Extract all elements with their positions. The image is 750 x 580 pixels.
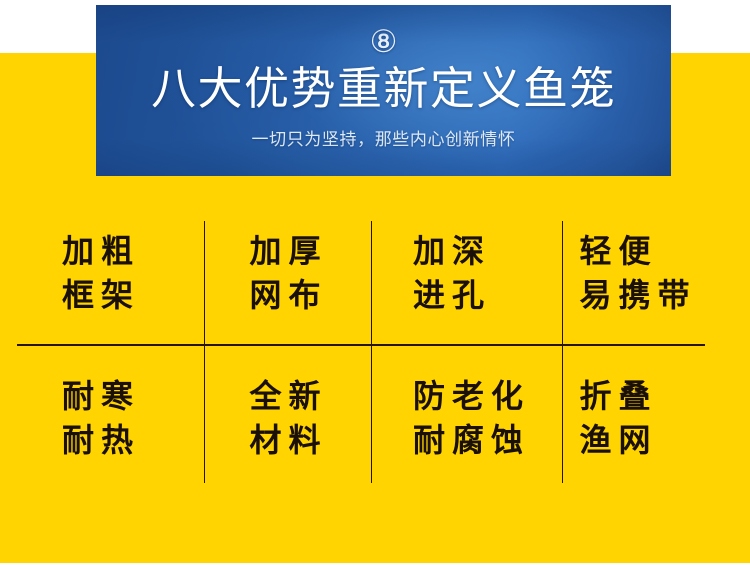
feature-row-top: 加粗 框架 加厚 网布 加深 进孔 轻便 易携带 [17,200,717,345]
feature-cell-2: 加厚 网布 [200,200,388,345]
feature-cell-3: 加深 进孔 [387,200,551,345]
feature-2-line-1: 加厚 [250,229,388,273]
feature-4-line-2: 易携带 [580,273,718,317]
feature-5-line-2: 耐热 [62,418,200,462]
promo-banner-page: ⑧ 八大优势重新定义鱼笼 一切只为坚持，那些内心创新情怀 加粗 框架 加厚 网布… [0,0,750,580]
banner-subtitle: 一切只为坚持，那些内心创新情怀 [96,129,671,151]
feature-cell-7: 防老化 耐腐蚀 [387,345,551,490]
header-banner: ⑧ 八大优势重新定义鱼笼 一切只为坚持，那些内心创新情怀 [96,5,671,176]
feature-8-line-2: 渔网 [580,418,718,462]
feature-4-line-1: 轻便 [580,229,718,273]
feature-5-line-1: 耐寒 [62,374,200,418]
feature-cell-1: 加粗 框架 [17,200,200,345]
grid-divider-vertical-1 [204,221,205,483]
circled-eight-icon: ⑧ [370,27,398,58]
feature-7-line-1: 防老化 [413,374,551,418]
feature-8-line-1: 折叠 [580,374,718,418]
feature-row-bottom: 耐寒 耐热 全新 材料 防老化 耐腐蚀 折叠 渔网 [17,345,717,490]
feature-1-line-2: 框架 [62,273,200,317]
banner-title: 八大优势重新定义鱼笼 [96,62,671,116]
feature-cell-5: 耐寒 耐热 [17,345,200,490]
feature-cell-8: 折叠 渔网 [551,345,718,490]
feature-cell-4: 轻便 易携带 [551,200,718,345]
feature-6-line-2: 材料 [250,418,388,462]
feature-7-line-2: 耐腐蚀 [413,418,551,462]
feature-1-line-1: 加粗 [62,229,200,273]
feature-2-line-2: 网布 [250,273,388,317]
grid-divider-horizontal [17,344,705,346]
feature-3-line-2: 进孔 [413,273,551,317]
feature-6-line-1: 全新 [250,374,388,418]
feature-3-line-1: 加深 [413,229,551,273]
grid-divider-vertical-2 [371,221,372,483]
section-number-badge-wrap: ⑧ [96,27,671,58]
feature-cell-6: 全新 材料 [200,345,388,490]
grid-divider-vertical-3 [562,221,563,483]
